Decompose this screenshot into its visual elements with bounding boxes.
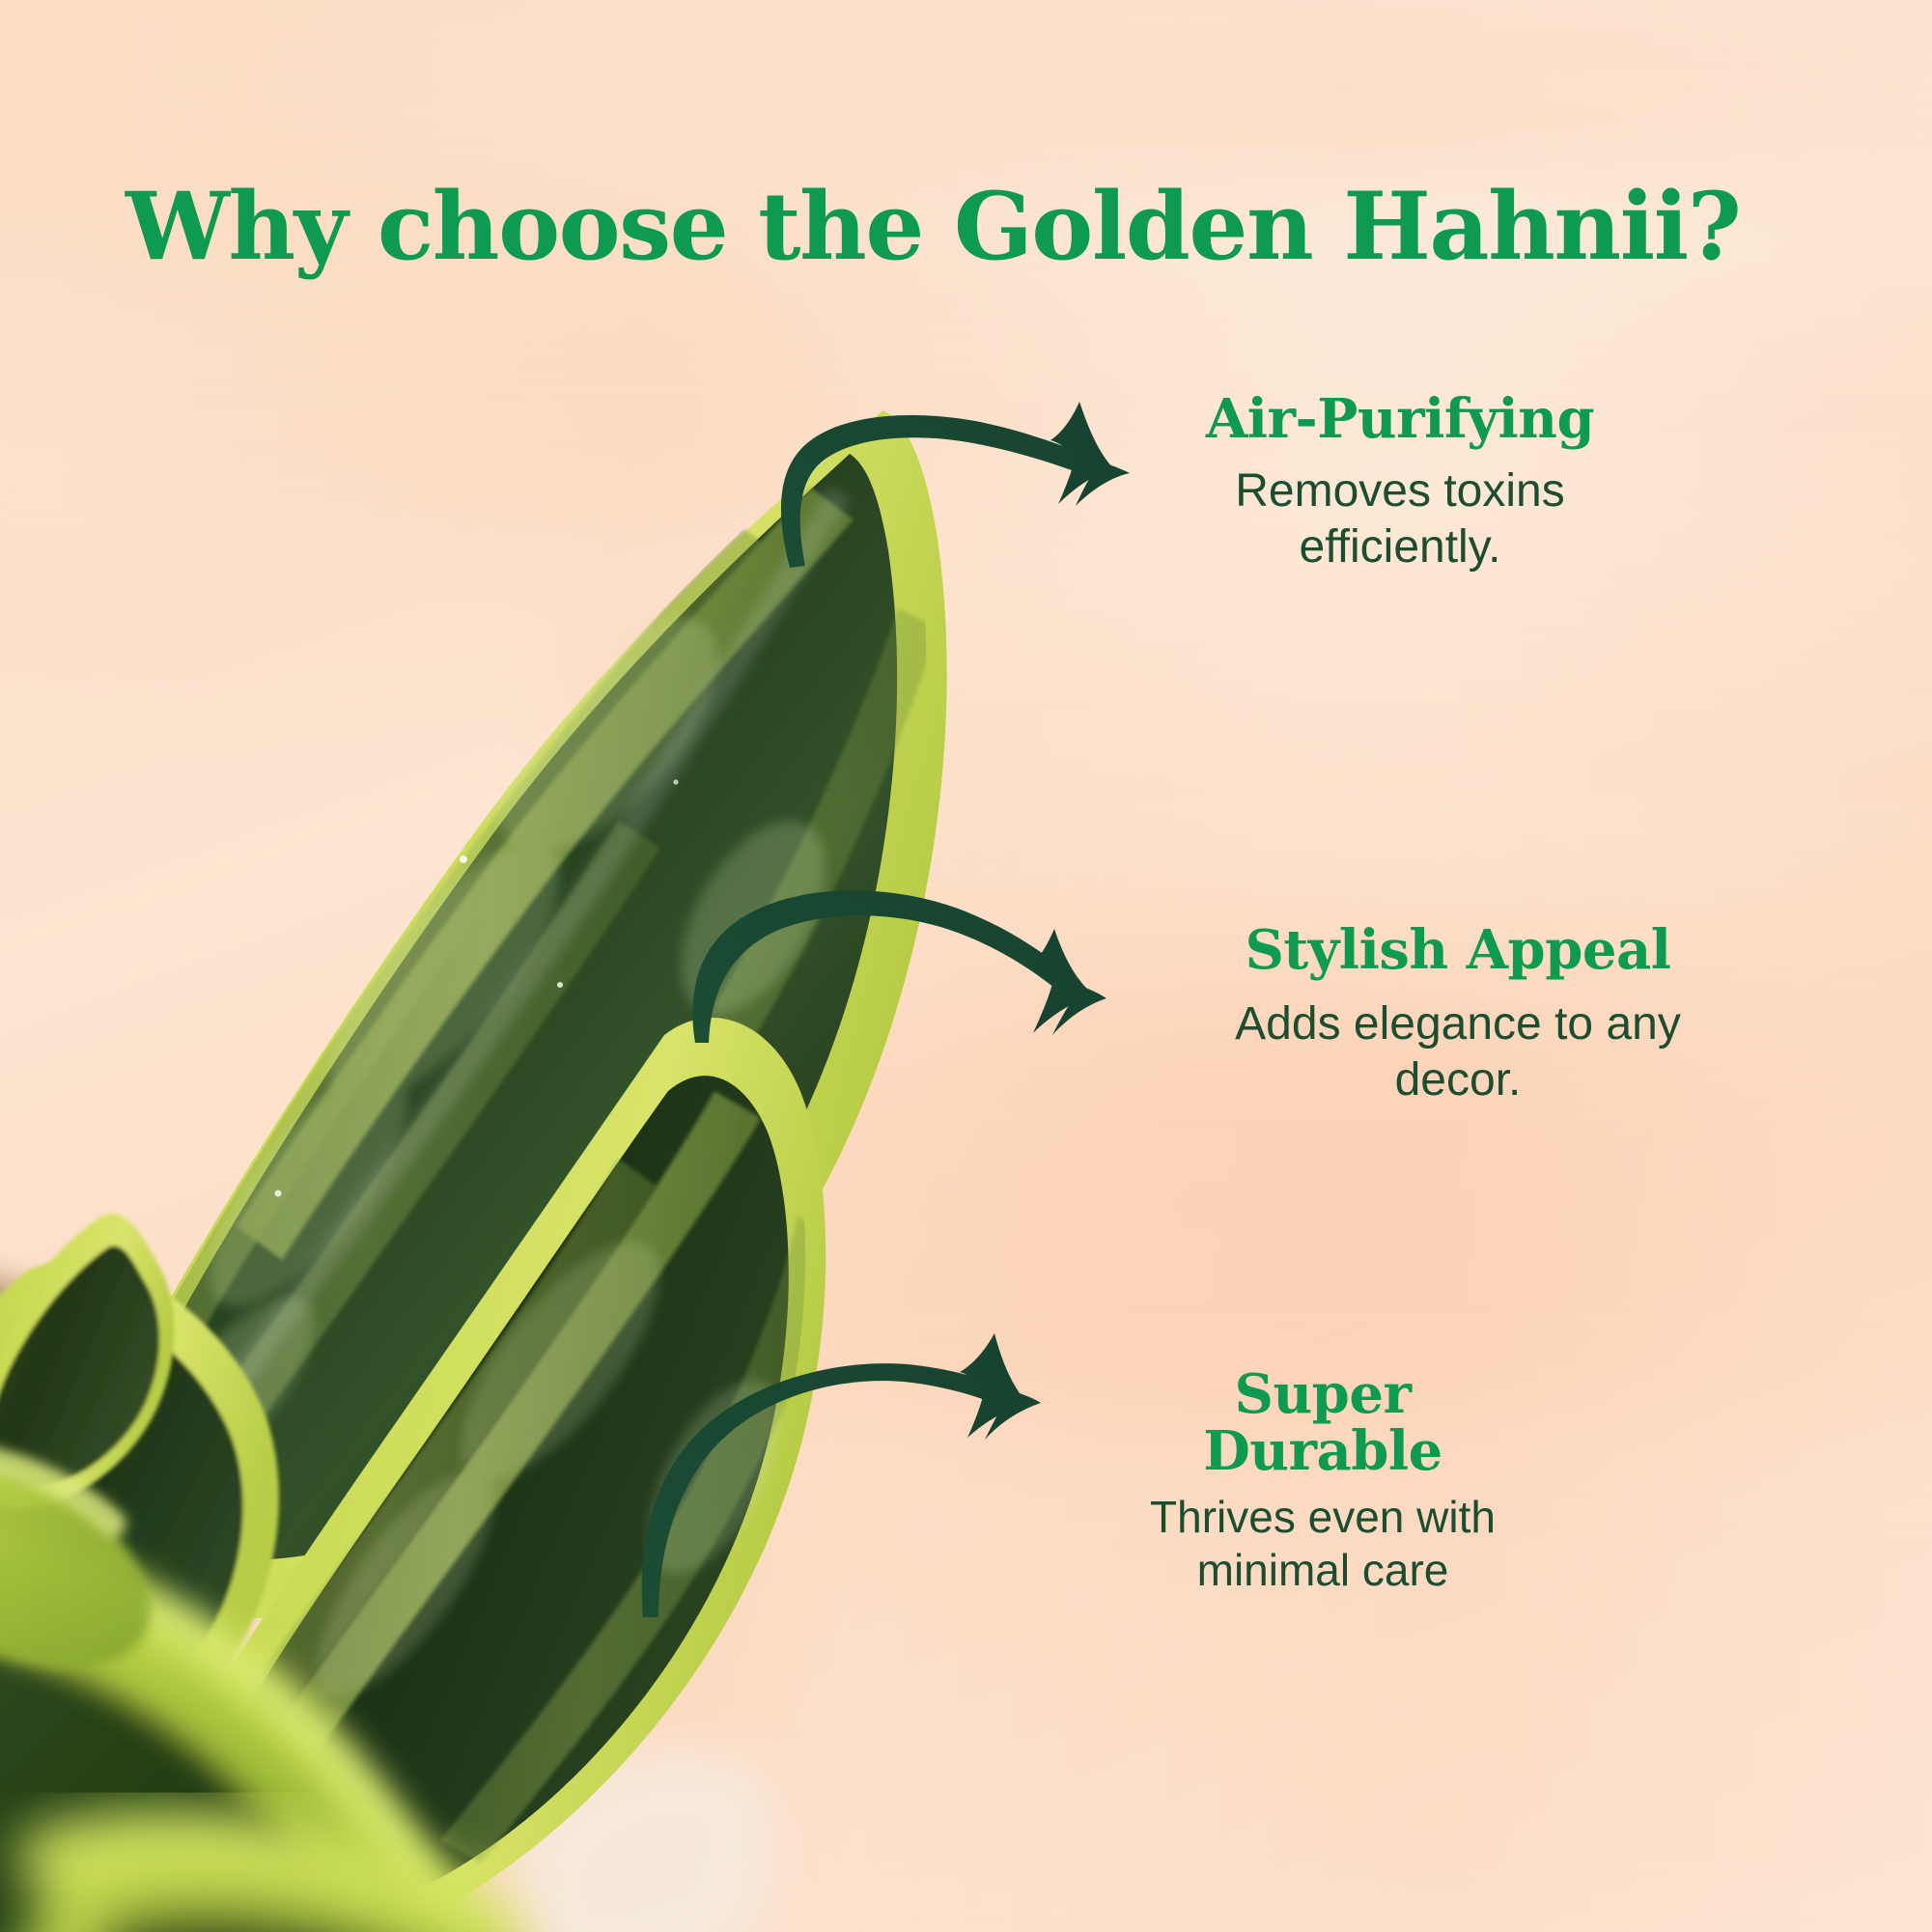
annotation-body: Adds elegance to any decor. xyxy=(1231,996,1685,1107)
golden-hahnii-plant-photo xyxy=(0,319,1081,1932)
page-title: Why choose the Golden Hahnii? xyxy=(126,172,1740,281)
annotation-heading: Super Durable xyxy=(1144,1366,1501,1481)
poster-canvas: Why choose the Golden Hahnii? xyxy=(0,0,1932,1932)
annotation-heading: Stylish Appeal xyxy=(1231,922,1685,979)
annotation-body: Removes toxins efficiently. xyxy=(1173,463,1627,574)
annotation-air-purifying: Air-Purifying Removes toxins efficiently… xyxy=(1173,391,1627,575)
annotation-super-durable: Super Durable Thrives even with minimal … xyxy=(1144,1366,1501,1597)
background-texture-streak xyxy=(0,0,1932,174)
annotation-heading: Air-Purifying xyxy=(1173,391,1627,448)
annotation-stylish-appeal: Stylish Appeal Adds elegance to any deco… xyxy=(1231,922,1685,1108)
annotation-body: Thrives even with minimal care xyxy=(1144,1491,1501,1597)
